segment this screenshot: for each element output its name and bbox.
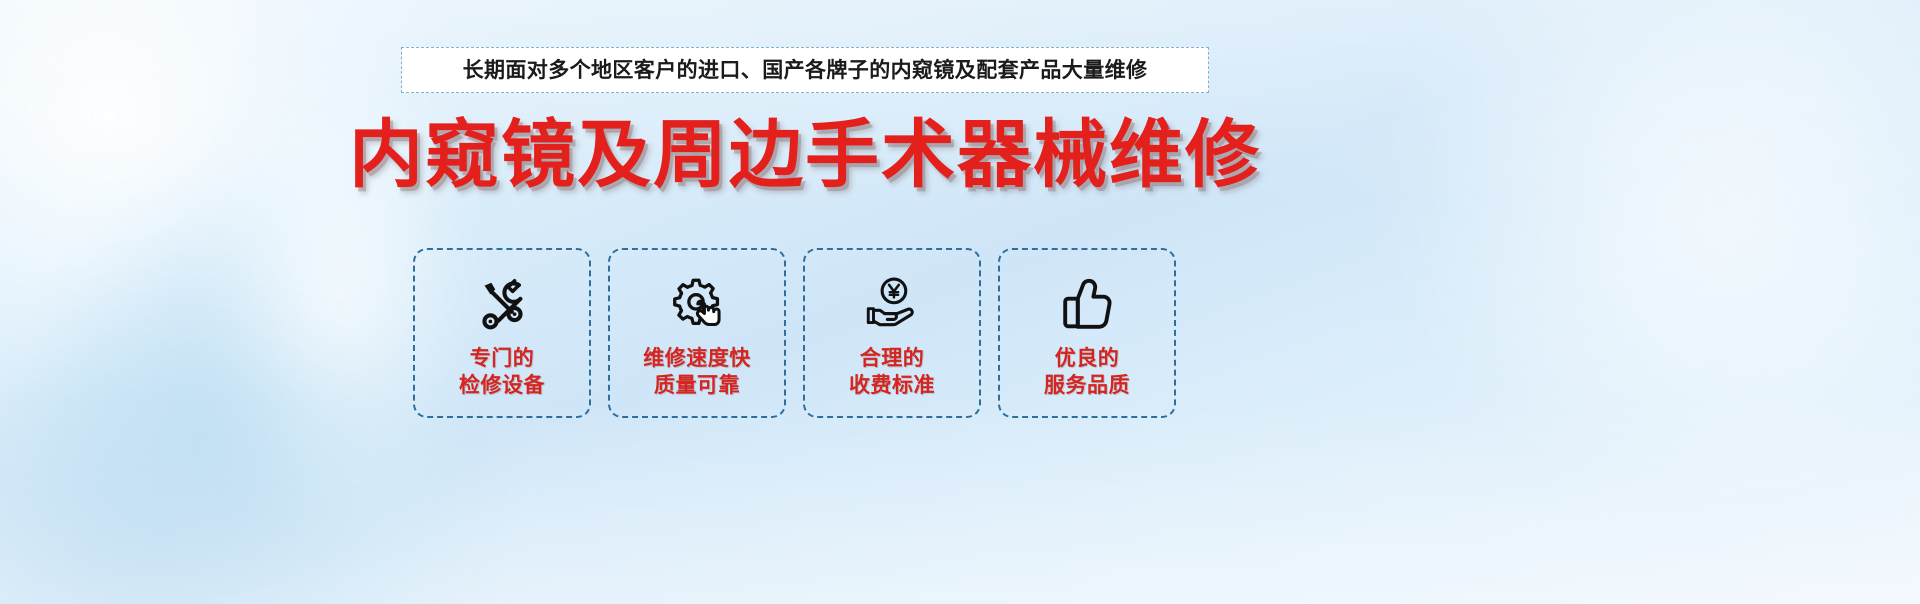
gear-cursor-icon: [662, 271, 732, 337]
feature-label-line-2: 检修设备: [459, 372, 545, 399]
feature-card-pricing[interactable]: 合理的 收费标准: [803, 248, 981, 418]
feature-label-line-1: 维修速度快: [643, 345, 751, 372]
thumbs-up-icon: [1052, 271, 1122, 337]
feature-label-line-2: 服务品质: [1044, 372, 1130, 399]
subtitle-text: 长期面对多个地区客户的进口、国产各牌子的内窥镜及配套产品大量维修: [463, 60, 1148, 81]
feature-label-line-1: 专门的: [459, 345, 545, 372]
page-title: 内窥镜及周边手术器械维修: [0, 117, 1610, 195]
feature-label-line-1: 合理的: [849, 345, 935, 372]
screwdriver-wrench-icon: [467, 271, 537, 337]
feature-card-list: 专门的 检修设备 维修速度快 质量可靠: [413, 248, 1176, 418]
feature-card-equipment[interactable]: 专门的 检修设备: [413, 248, 591, 418]
feature-card-label: 优良的 服务品质: [1044, 345, 1130, 399]
banner-content: 长期面对多个地区客户的进口、国产各牌子的内窥镜及配套产品大量维修 内窥镜及周边手…: [0, 0, 1920, 604]
feature-card-service[interactable]: 优良的 服务品质: [998, 248, 1176, 418]
feature-label-line-1: 优良的: [1044, 345, 1130, 372]
feature-card-speed[interactable]: 维修速度快 质量可靠: [608, 248, 786, 418]
feature-card-label: 合理的 收费标准: [849, 345, 935, 399]
feature-label-line-2: 质量可靠: [643, 372, 751, 399]
feature-card-label: 维修速度快 质量可靠: [643, 345, 751, 399]
hand-holding-yen-coin-icon: [857, 271, 927, 337]
promo-banner: 长期面对多个地区客户的进口、国产各牌子的内窥镜及配套产品大量维修 内窥镜及周边手…: [0, 0, 1920, 604]
feature-label-line-2: 收费标准: [849, 372, 935, 399]
feature-card-label: 专门的 检修设备: [459, 345, 545, 399]
subtitle-box: 长期面对多个地区客户的进口、国产各牌子的内窥镜及配套产品大量维修: [401, 47, 1209, 93]
